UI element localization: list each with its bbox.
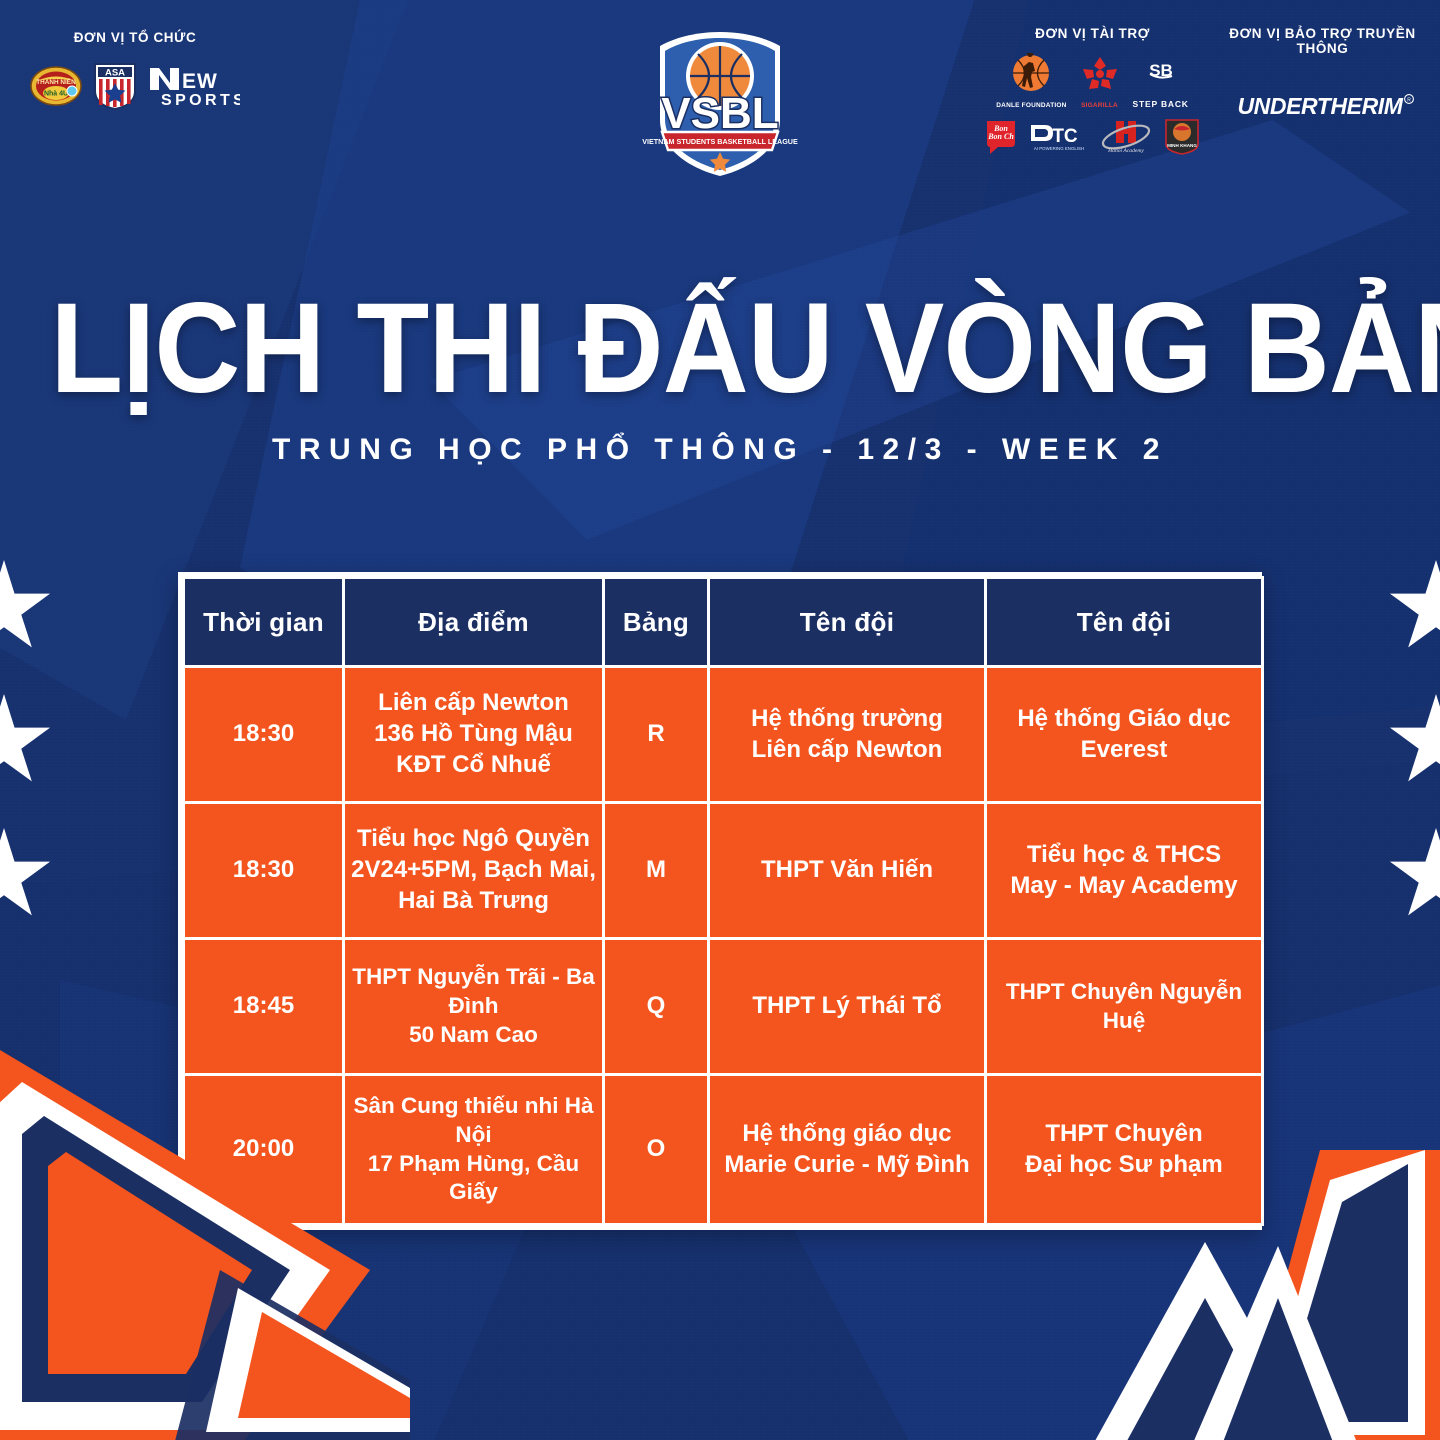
- media-partner-label: ĐƠN VỊ BẢO TRỢ TRUYỀN THÔNG: [1205, 26, 1440, 56]
- cell-group: Q: [604, 939, 709, 1075]
- cell-team1: Hệ thống trường Liên cấp Newton: [709, 667, 986, 803]
- svg-text:THANH NIÊN: THANH NIÊN: [36, 77, 76, 86]
- poster-header: ĐƠN VỊ TỔ CHỨC THANH NIÊN Nhà 4U: [0, 0, 1440, 200]
- sponsor-logo-row-1: DANLE FOUNDATION SIGARILLA: [975, 53, 1210, 109]
- svg-text:ASA: ASA: [105, 68, 125, 79]
- cell-group: O: [604, 1075, 709, 1225]
- thanh-nien-logo: THANH NIÊN Nhà 4U: [30, 64, 82, 113]
- bottom-left-chevron-decoration: [0, 1020, 410, 1440]
- star-icon: [1388, 828, 1440, 924]
- cell-team1: THPT Lý Thái Tổ: [709, 939, 986, 1075]
- asa-shield-mark: ASA: [92, 61, 138, 111]
- star-icon: [1388, 560, 1440, 656]
- right-star-decoration: [1388, 560, 1440, 924]
- vsbl-crest-logo: VSBL VIETNAM STUDENTS BASKETBALL LEAGUE: [640, 24, 800, 184]
- bottom-right-chevron-decoration: [1030, 1150, 1440, 1440]
- crest-banner-text: VIETNAM STUDENTS BASKETBALL LEAGUE: [642, 137, 798, 146]
- cell-venue: Tiểu học Ngô Quyền 2V24+5PM, Bạch Mai, H…: [344, 803, 604, 939]
- step-back-mark: SB: [1134, 60, 1188, 92]
- schedule-poster: ĐƠN VỊ TỔ CHỨC THANH NIÊN Nhà 4U: [0, 0, 1440, 1440]
- column-header-team2: Tên đội: [986, 578, 1263, 667]
- bon-bon-ch-mark: Bon Bon Ch: [984, 117, 1018, 155]
- undertherim-wordmark: UNDERTHERIM: [1237, 93, 1403, 119]
- cell-team2: Tiểu học & THCS May - May Academy: [986, 803, 1263, 939]
- danle-foundation-caption: DANLE FOUNDATION: [996, 102, 1066, 109]
- cell-group: M: [604, 803, 709, 939]
- cell-time: 18:30: [184, 667, 344, 803]
- cell-time: 18:30: [184, 803, 344, 939]
- table-header-row: Thời gian Địa điểm Bảng Tên đội Tên đội: [184, 578, 1263, 667]
- svg-text:Bon Ch: Bon Ch: [987, 132, 1014, 141]
- asa-shield-logo: ASA: [92, 61, 138, 116]
- danle-foundation-mark: [1010, 53, 1052, 95]
- table-row: 18:30 Liên cấp Newton 136 Hồ Tùng Mậu KĐ…: [184, 667, 1263, 803]
- minh-khang-mark: MINH KHANG: [1163, 117, 1201, 155]
- sponsor-label: ĐƠN VỊ TÀI TRỢ: [975, 26, 1210, 41]
- svg-text:Nhà 4U: Nhà 4U: [44, 91, 68, 98]
- step-back-logo: SB STEP BACK: [1133, 60, 1189, 109]
- column-header-team1: Tên đội: [709, 578, 986, 667]
- left-star-decoration: [0, 560, 52, 924]
- cell-team2: Hệ thống Giáo dục Everest: [986, 667, 1263, 803]
- svg-text:SPORTS: SPORTS: [161, 92, 240, 108]
- sigarilla-logo: SIGARILLA: [1079, 53, 1121, 109]
- star-icon: [1388, 694, 1440, 790]
- bon-bon-ch-logo: Bon Bon Ch: [984, 117, 1018, 160]
- page-title: LỊCH THI ĐẤU VÒNG BẢNG: [50, 288, 1389, 411]
- svg-text:AI POWERING ENGLISH: AI POWERING ENGLISH: [1034, 146, 1084, 151]
- new-sports-mark: EW SPORTS: [148, 64, 240, 108]
- organizer-logo-row: THANH NIÊN Nhà 4U ASA: [10, 61, 260, 116]
- hanoi-academy-mark: Hanoi Academy: [1100, 118, 1152, 154]
- danle-foundation-logo: DANLE FOUNDATION: [996, 53, 1066, 109]
- organizer-block: ĐƠN VỊ TỔ CHỨC THANH NIÊN Nhà 4U: [10, 30, 260, 116]
- svg-text:EW: EW: [182, 70, 218, 93]
- crest-wordmark: VSBL: [661, 89, 778, 138]
- step-back-caption: STEP BACK: [1133, 99, 1189, 109]
- media-logo-row: UNDERTHERIM R: [1205, 90, 1440, 124]
- star-icon: [0, 560, 52, 656]
- atc-mark: TC AI POWERING ENGLISH: [1029, 119, 1089, 153]
- atc-logo: TC AI POWERING ENGLISH: [1029, 119, 1089, 158]
- table-row: 18:30 Tiểu học Ngô Quyền 2V24+5PM, Bạch …: [184, 803, 1263, 939]
- svg-text:R: R: [1407, 98, 1411, 104]
- star-icon: [0, 828, 52, 924]
- media-partner-block: ĐƠN VỊ BẢO TRỢ TRUYỀN THÔNG UNDERTHERIM …: [1205, 26, 1440, 124]
- sponsor-block: ĐƠN VỊ TÀI TRỢ DANLE FOUNDATION: [975, 26, 1210, 160]
- title-section: LỊCH THI ĐẤU VÒNG BẢNG TRUNG HỌC PHỔ THÔ…: [0, 288, 1440, 467]
- cell-team1: Hệ thống giáo dục Marie Curie - Mỹ Đình: [709, 1075, 986, 1225]
- table-header: Thời gian Địa điểm Bảng Tên đội Tên đội: [184, 578, 1263, 667]
- svg-text:MINH KHANG: MINH KHANG: [1167, 143, 1197, 148]
- cell-team1: THPT Văn Hiến: [709, 803, 986, 939]
- sigarilla-caption: SIGARILLA: [1079, 102, 1121, 109]
- undertherim-logo: UNDERTHERIM R: [1228, 90, 1418, 124]
- sigarilla-mark: [1079, 53, 1121, 95]
- star-icon: [0, 694, 52, 790]
- cell-group: R: [604, 667, 709, 803]
- cell-venue: Liên cấp Newton 136 Hồ Tùng Mậu KĐT Cổ N…: [344, 667, 604, 803]
- sponsor-logo-row-2: Bon Bon Ch TC AI POWERING ENGLISH: [975, 117, 1210, 160]
- minh-khang-logo: MINH KHANG: [1163, 117, 1201, 160]
- svg-text:TC: TC: [1052, 126, 1078, 147]
- column-header-venue: Địa điểm: [344, 578, 604, 667]
- hanoi-academy-logo: Hanoi Academy: [1100, 118, 1152, 159]
- cell-team2: THPT Chuyên Nguyễn Huệ: [986, 939, 1263, 1075]
- new-sports-logo: EW SPORTS: [148, 64, 240, 113]
- vsbl-crest-mark: VSBL VIETNAM STUDENTS BASKETBALL LEAGUE: [640, 24, 800, 184]
- page-subtitle: TRUNG HỌC PHỔ THÔNG - 12/3 - WEEK 2: [0, 433, 1440, 467]
- svg-text:Hanoi Academy: Hanoi Academy: [1107, 148, 1144, 154]
- organizer-label: ĐƠN VỊ TỔ CHỨC: [10, 30, 260, 45]
- column-header-group: Bảng: [604, 578, 709, 667]
- column-header-time: Thời gian: [184, 578, 344, 667]
- thanh-nien-mark: THANH NIÊN Nhà 4U: [30, 64, 82, 108]
